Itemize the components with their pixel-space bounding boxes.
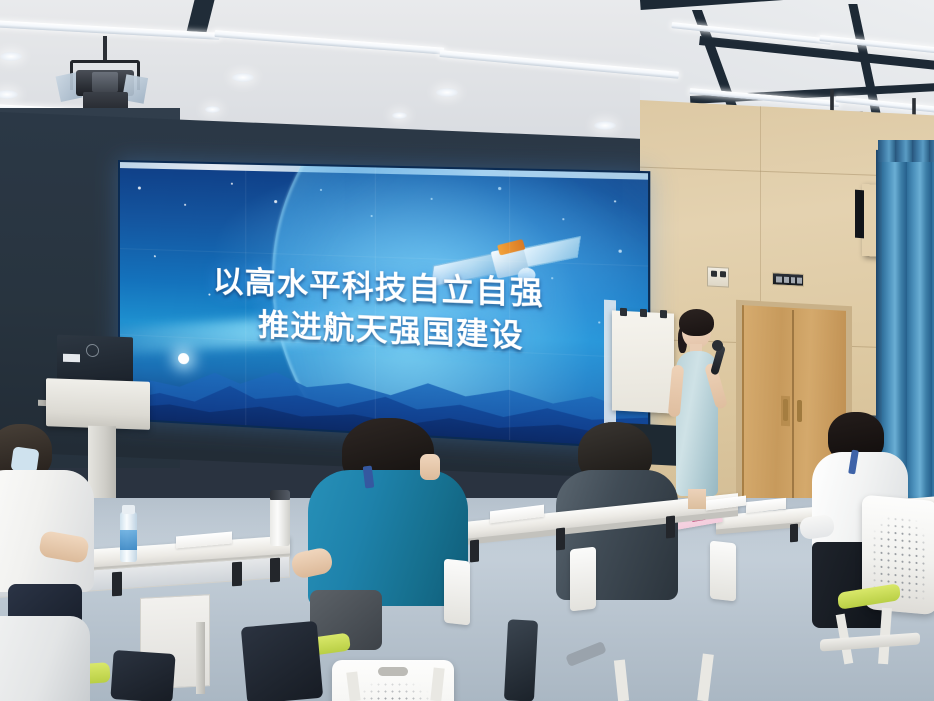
exit-sign-plate [772,272,804,287]
downlight [0,52,22,61]
door-lock-plate [781,396,790,426]
downlight [205,106,220,113]
audience-neck [420,454,440,480]
led-presentation-screen[interactable]: 以高水平科技自立自强 推进航天强国建设 [118,160,650,450]
conference-room-scene: 以高水平科技自立自强 推进航天强国建设 [0,0,934,701]
bag-tertiary [504,619,538,701]
presenter [662,313,732,503]
podium-lectern-top[interactable] [46,378,150,430]
flipchart-clip [640,309,647,317]
flipchart-clip [620,308,627,316]
exit-sign-glyph [776,276,782,282]
water-bottle-cap [122,505,135,514]
microphone-head [712,340,723,351]
downlight [392,112,407,119]
led-panel-seam [509,170,510,440]
chair-handle[interactable] [378,667,407,676]
desk-clamp [232,562,242,587]
star-icon [184,204,186,206]
audience-foreground-left [0,616,90,701]
wall-sensor-panel [707,266,729,287]
bright-star-icon [178,353,189,365]
door-seam [792,310,794,508]
downlight [232,73,254,82]
sensor-dot-icon [711,271,717,277]
water-bottle-label [120,530,137,550]
stage-light-lens [92,72,118,92]
door-handle[interactable] [797,400,802,422]
exit-sign-glyph [791,277,795,283]
desk-clamp [790,524,798,543]
screen-surface: 以高水平科技自立自强 推进航天强国建设 [120,162,648,448]
table-leg [196,622,205,694]
desk-clamp [270,558,280,583]
led-panel-seam [245,165,246,426]
sensor-dot-icon [720,271,726,277]
backpack [241,621,323,701]
presenter-legs [688,489,706,509]
stage-light-stem [103,36,107,62]
star-icon [154,255,156,257]
desk-clamp [556,528,565,551]
thermos-tumbler [270,494,290,546]
star-icon [138,186,141,189]
audience-left-masked [0,424,112,644]
stage-light-left [66,42,144,112]
chair-arm [710,541,736,602]
star-icon [231,183,233,185]
desk-clamp [666,516,675,539]
exit-sign-glyph [784,277,789,283]
curtain-header [878,140,934,162]
chair-arm [444,559,470,626]
desk-clamp [112,572,122,597]
monitor-logo-icon [86,344,99,357]
led-panel-seam [375,167,376,432]
thermos-tumbler-cap [270,490,290,500]
bag-secondary [110,650,175,701]
exit-sign-glyph [797,277,802,283]
presenter-hair [679,309,714,336]
star-icon [274,200,277,203]
downlight [436,88,458,97]
chair-arm [570,547,596,612]
monitor-label-tag [63,354,80,363]
downlight [594,121,616,130]
